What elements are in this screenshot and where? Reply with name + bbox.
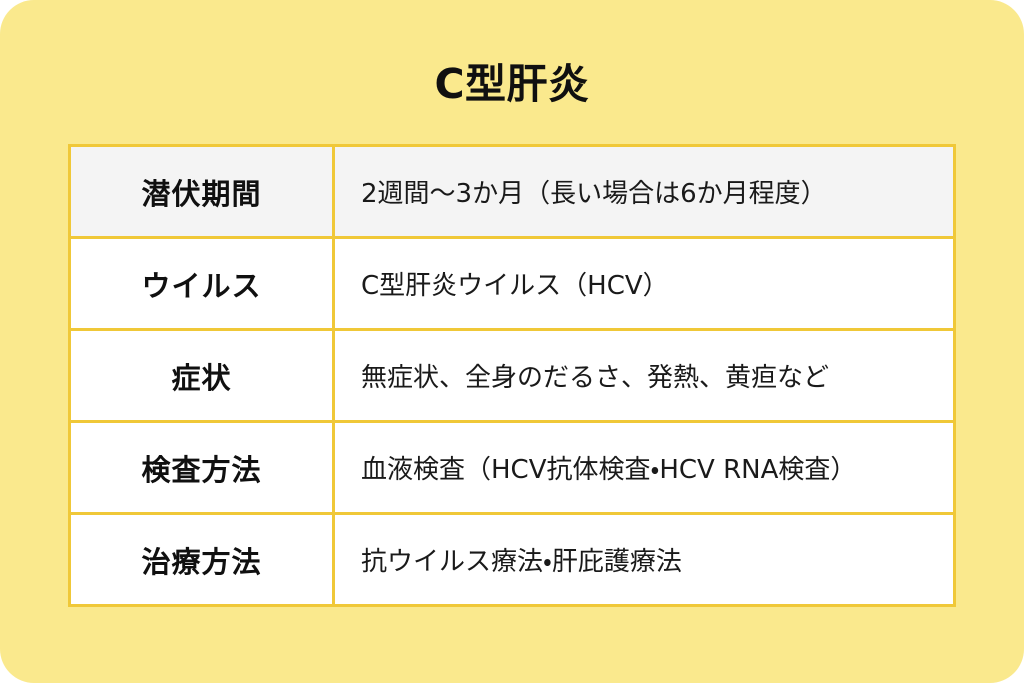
row-value-symptoms: 無症状、全身のだるさ、発熱、黄疸など <box>334 330 955 422</box>
table-row: 検査方法 血液検査（HCV抗体検査・HCV RNA検査） <box>70 422 955 514</box>
row-value-virus: C型肝炎ウイルス（HCV） <box>334 238 955 330</box>
hepatitis-c-info-table: 潜伏期間 2週間〜3か月（長い場合は6か月程度） ウイルス C型肝炎ウイルス（H… <box>68 144 956 607</box>
table-row: ウイルス C型肝炎ウイルス（HCV） <box>70 238 955 330</box>
row-value-treatment-method: 抗ウイルス療法・肝庇護療法 <box>334 514 955 606</box>
page-canvas: C型肝炎 潜伏期間 2週間〜3か月（長い場合は6か月程度） ウイルス C型肝炎ウ… <box>0 0 1024 683</box>
row-value-incubation-period: 2週間〜3か月（長い場合は6か月程度） <box>334 146 955 238</box>
table-row: 症状 無症状、全身のだるさ、発熱、黄疸など <box>70 330 955 422</box>
row-value-test-method: 血液検査（HCV抗体検査・HCV RNA検査） <box>334 422 955 514</box>
row-label-incubation-period: 潜伏期間 <box>70 146 334 238</box>
table-body: 潜伏期間 2週間〜3か月（長い場合は6か月程度） ウイルス C型肝炎ウイルス（H… <box>70 146 955 606</box>
row-label-treatment-method: 治療方法 <box>70 514 334 606</box>
info-card: C型肝炎 潜伏期間 2週間〜3か月（長い場合は6か月程度） ウイルス C型肝炎ウ… <box>0 0 1024 683</box>
table-row: 潜伏期間 2週間〜3か月（長い場合は6か月程度） <box>70 146 955 238</box>
row-label-test-method: 検査方法 <box>70 422 334 514</box>
table-row: 治療方法 抗ウイルス療法・肝庇護療法 <box>70 514 955 606</box>
page-title: C型肝炎 <box>0 60 1024 109</box>
row-label-virus: ウイルス <box>70 238 334 330</box>
row-label-symptoms: 症状 <box>70 330 334 422</box>
